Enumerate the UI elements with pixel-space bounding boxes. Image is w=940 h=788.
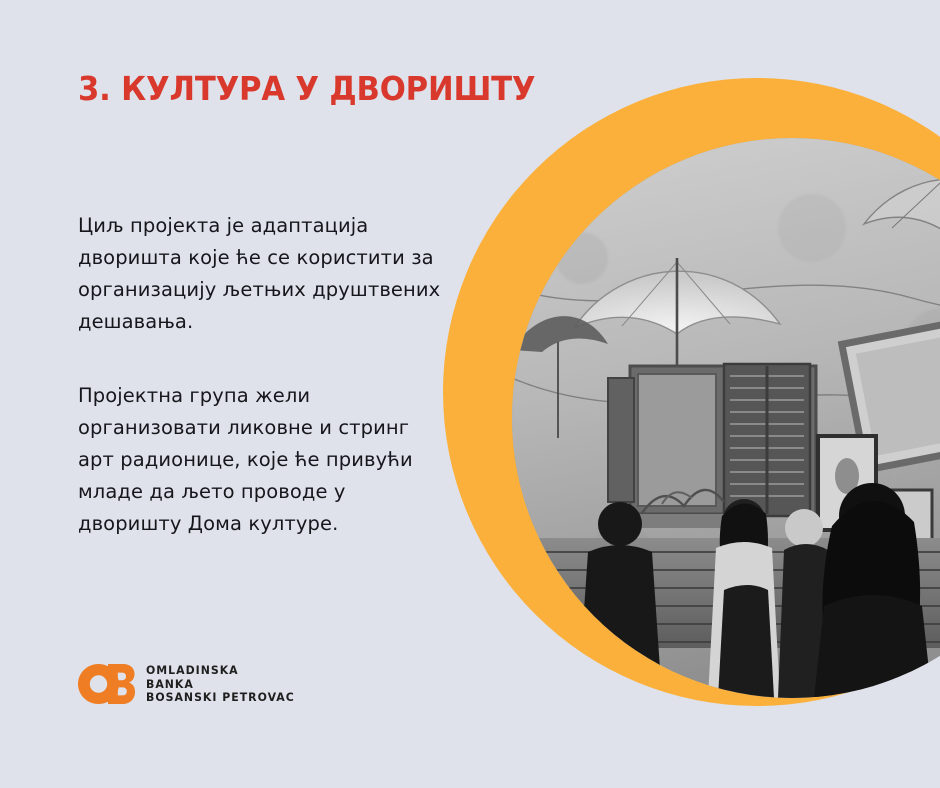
text-column: 3. КУЛТУРА У ДВОРИШТУ Циљ пројекта је ад… xyxy=(78,0,458,788)
umbrella-far-left xyxy=(512,316,608,438)
slide-canvas: 3. КУЛТУРА У ДВОРИШТУ Циљ пројекта је ад… xyxy=(0,0,940,788)
logo-line-2: BANKA xyxy=(146,678,295,692)
logo-line-1: OMLADINSKA xyxy=(146,664,295,678)
wall-frames xyxy=(818,309,940,548)
page-title: 3. КУЛТУРА У ДВОРИШТУ xyxy=(78,72,535,105)
umbrella-left xyxy=(574,258,780,445)
logo-wordmark: OMLADINSKA BANKA BOSANSKI PETROVAC xyxy=(146,664,295,705)
ob-monogram-icon xyxy=(78,664,135,704)
paragraph-goal: Циљ пројекта је адаптација дворишта које… xyxy=(78,210,450,338)
umbrella-right xyxy=(864,166,940,326)
organization-logo: OMLADINSKA BANKA BOSANSKI PETROVAC xyxy=(78,664,303,705)
photo-circle xyxy=(512,138,940,698)
people-group xyxy=(578,481,940,698)
courtyard-photo-illustration xyxy=(512,138,940,698)
window-with-shutters xyxy=(608,364,816,528)
paragraph-activities: Пројектна група жели организовати ликовн… xyxy=(78,380,450,540)
logo-line-3: BOSANSKI PETROVAC xyxy=(146,691,295,705)
orange-ring xyxy=(443,78,940,706)
circular-artwork xyxy=(443,78,940,706)
wooden-fence xyxy=(512,538,940,648)
